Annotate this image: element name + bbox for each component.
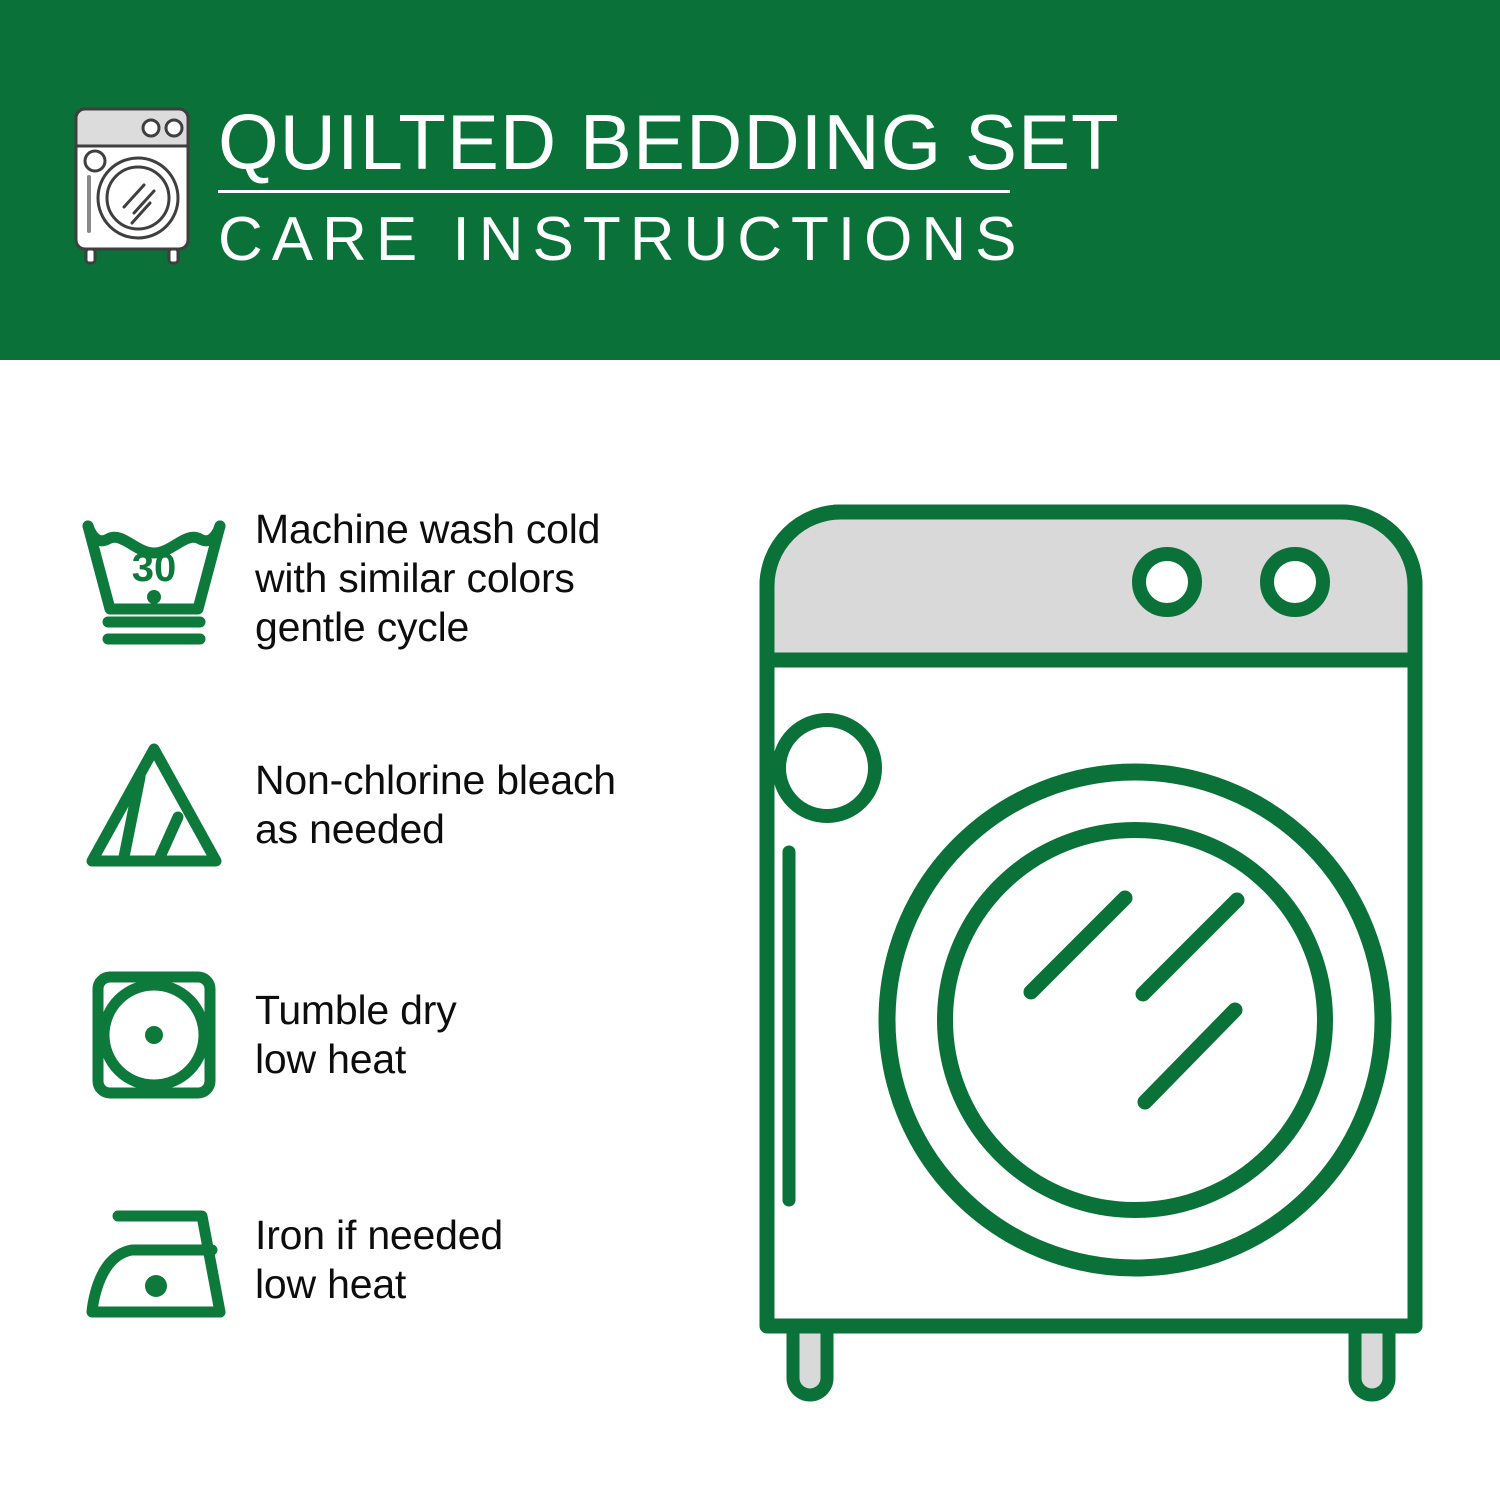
front-load-washing-machine-illustration — [735, 480, 1475, 1430]
care-item-label: Tumble dry low heat — [255, 986, 457, 1084]
care-item-label: Machine wash cold with similar colors ge… — [255, 505, 600, 652]
care-label-line: Iron if needed — [255, 1211, 503, 1260]
care-instructions-page: QUILTED BEDDING SET CARE INSTRUCTIONS — [0, 0, 1500, 1500]
washing-machine-icon — [62, 103, 202, 268]
knob-right[interactable] — [1267, 554, 1323, 610]
care-label-line: Tumble dry — [255, 986, 457, 1035]
wash-tub-30-gentle-icon: 30 — [70, 509, 245, 649]
care-label-line: with similar colors — [255, 554, 600, 603]
tumble-dry-low-icon — [70, 965, 245, 1105]
page-subtitle: CARE INSTRUCTIONS — [218, 207, 1018, 273]
care-item-tumble-dry: Tumble dry low heat — [70, 965, 710, 1105]
knob-left[interactable] — [1139, 554, 1195, 610]
header-band: QUILTED BEDDING SET CARE INSTRUCTIONS — [0, 0, 1500, 360]
title-divider — [218, 190, 1010, 193]
care-label-line: Non-chlorine bleach — [255, 756, 616, 805]
care-label-line: as needed — [255, 805, 616, 854]
care-label-line: low heat — [255, 1260, 503, 1309]
care-label-line: Machine wash cold — [255, 505, 600, 554]
drum-outer-ring — [887, 772, 1383, 1268]
wash-temperature-value: 30 — [131, 546, 176, 590]
care-item-label: Non-chlorine bleach as needed — [255, 756, 616, 854]
care-label-line: low heat — [255, 1035, 457, 1084]
care-item-bleach: Non-chlorine bleach as needed — [70, 735, 710, 875]
header-text-block: QUILTED BEDDING SET CARE INSTRUCTIONS — [218, 100, 1018, 273]
care-item-machine-wash: 30 Machine wash cold with similar colors… — [70, 505, 710, 652]
triangle-non-chlorine-bleach-icon — [70, 735, 245, 875]
care-item-label: Iron if needed low heat — [255, 1211, 503, 1309]
indicator-circle — [779, 720, 875, 816]
page-title: QUILTED BEDDING SET — [218, 100, 1018, 184]
care-instruction-list: 30 Machine wash cold with similar colors… — [0, 360, 720, 1500]
iron-low-heat-icon — [70, 1190, 245, 1330]
care-label-line: gentle cycle — [255, 603, 600, 652]
care-item-iron: Iron if needed low heat — [70, 1190, 710, 1330]
